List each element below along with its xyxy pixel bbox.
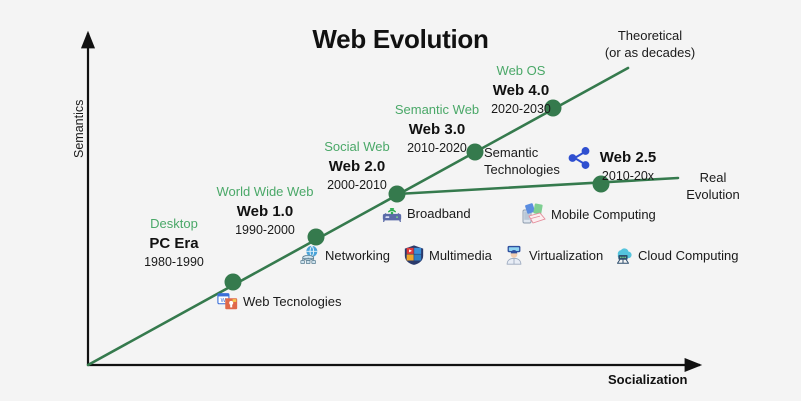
endnote-line-1: Theoretical xyxy=(605,28,695,45)
era-years-label: 2010-2020 xyxy=(395,140,479,156)
tech-cloud-computing[interactable]: Cloud Computing xyxy=(612,244,738,266)
tech-mobile-computing[interactable]: Mobile Computing xyxy=(521,201,656,227)
era-web-3-0: Semantic Web Web 3.0 2010-2020 xyxy=(395,101,479,156)
web-evolution-diagram: Web Evolution Semantics Socialization De… xyxy=(0,0,801,401)
era-years-label: 2020-2030 xyxy=(491,101,551,117)
era-years-label: 2010-20x xyxy=(600,168,656,184)
node-broadband[interactable] xyxy=(389,186,406,203)
tech-multimedia[interactable]: Multimedia xyxy=(403,244,492,266)
node-web-technologies[interactable] xyxy=(225,274,242,291)
endnote-line-2: (or as decades) xyxy=(605,45,695,62)
tech-label: Web Tecnologies xyxy=(243,294,342,309)
tech-label: Networking xyxy=(325,248,390,263)
era-web-4-0: Web OS Web 4.0 2020-2030 xyxy=(491,62,551,117)
mobile-computing-icon xyxy=(521,201,547,227)
router-icon xyxy=(381,202,403,224)
era-sub-label: World Wide Web xyxy=(216,183,313,201)
tech-label-line-1: Semantic xyxy=(484,145,538,160)
tech-label-multiline: Semantic Technologies xyxy=(484,145,560,179)
era-sub-label: Social Web xyxy=(324,138,390,156)
cloud-computing-icon xyxy=(612,244,634,266)
era-years-label: 2000-2010 xyxy=(324,177,390,193)
era-web-2-5: Web 2.5 2010-20x xyxy=(600,147,656,184)
y-axis-label: Semantics xyxy=(72,100,86,158)
era-name-label: Web 2.5 xyxy=(600,147,656,168)
tech-label: Virtualization xyxy=(529,248,603,263)
era-web-2-0: Social Web Web 2.0 2000-2010 xyxy=(324,138,390,193)
era-name-label: PC Era xyxy=(144,233,204,254)
multimedia-icon xyxy=(403,244,425,266)
era-web-1-0: World Wide Web Web 1.0 1990-2000 xyxy=(216,183,313,238)
tech-label: Multimedia xyxy=(429,248,492,263)
x-axis-label: Socialization xyxy=(608,372,687,387)
tech-label: Cloud Computing xyxy=(638,248,738,263)
tech-semantic-technologies[interactable]: Semantic Technologies xyxy=(484,145,592,179)
tech-broadband[interactable]: Broadband xyxy=(381,202,471,224)
web-technologies-icon: W xyxy=(217,290,239,312)
era-years-label: 1980-1990 xyxy=(144,254,204,270)
endnote-line-1: Real xyxy=(686,170,739,187)
endnote-real-evolution: Real Evolution xyxy=(686,170,739,204)
tech-web-technologies[interactable]: W Web Tecnologies xyxy=(217,290,342,312)
share-nodes-icon xyxy=(566,145,592,171)
tech-virtualization[interactable]: Virtualization xyxy=(503,244,603,266)
endnote-line-2: Evolution xyxy=(686,187,739,204)
virtualization-icon xyxy=(503,244,525,266)
era-sub-label: Semantic Web xyxy=(395,101,479,119)
era-sub-label: Web OS xyxy=(491,62,551,80)
era-name-label: Web 3.0 xyxy=(395,119,479,140)
tech-networking[interactable]: Networking xyxy=(299,244,390,266)
era-name-label: Web 4.0 xyxy=(491,80,551,101)
tech-label: Mobile Computing xyxy=(551,207,656,222)
era-name-label: Web 2.0 xyxy=(324,156,390,177)
tech-label: Broadband xyxy=(407,206,471,221)
era-years-label: 1990-2000 xyxy=(216,222,313,238)
era-pc-era: Desktop PC Era 1980-1990 xyxy=(144,215,204,270)
endnote-theoretical: Theoretical (or as decades) xyxy=(605,28,695,62)
networking-icon xyxy=(299,244,321,266)
tech-label-line-2: Technologies xyxy=(484,162,560,177)
era-sub-label: Desktop xyxy=(144,215,204,233)
era-name-label: Web 1.0 xyxy=(216,201,313,222)
